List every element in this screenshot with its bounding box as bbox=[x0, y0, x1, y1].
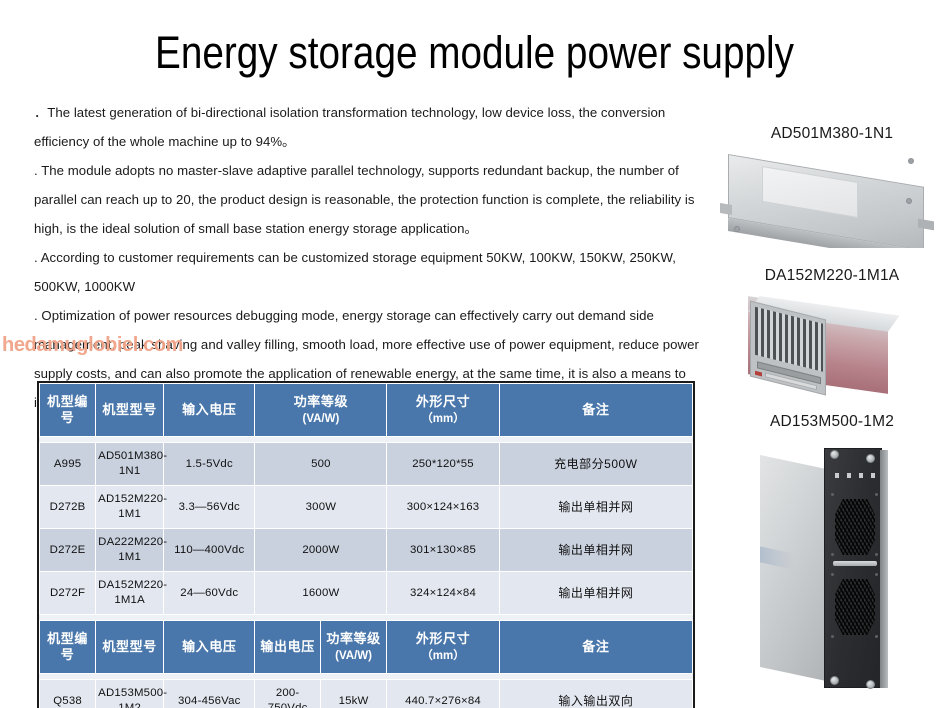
panel-screw-dot bbox=[831, 553, 834, 556]
cell-input-voltage: 3.3—56Vdc bbox=[164, 486, 255, 529]
cell-model-type: DA222M220-1M1 bbox=[96, 529, 164, 572]
cell-model-type: AD152M220-1M1 bbox=[96, 486, 164, 529]
cell-power-rating: 300W bbox=[255, 486, 387, 529]
cell-model-type: DA152M220-1M1A bbox=[96, 572, 164, 615]
header-cell-remark: 备注 bbox=[499, 621, 692, 674]
cell-remark: 输出单相并网 bbox=[499, 486, 692, 529]
product-photo-da152m220-1m1a bbox=[718, 292, 946, 396]
spec-table: 机型编号 机型型号 输入电压 功率等级 (VA/W) 外形尺寸 （mm） 备注 … bbox=[37, 381, 695, 708]
page-title: Energy storage module power supply bbox=[66, 26, 882, 80]
cell-dimensions: 301×130×85 bbox=[387, 529, 499, 572]
table-header-row-2: 机型编号 机型型号 输入电压 输出电压 功率等级 (VA/W) 外形尺寸 （mm… bbox=[40, 621, 693, 674]
cell-power-rating: 2000W bbox=[255, 529, 387, 572]
status-led-icon bbox=[859, 473, 863, 478]
body-paragraph-2: . The module adopts no master-slave adap… bbox=[34, 156, 706, 243]
cell-model-no: Q538 bbox=[40, 680, 96, 708]
screw-icon bbox=[906, 198, 912, 204]
header-cell-input-voltage: 输入电压 bbox=[164, 621, 255, 674]
screw-icon bbox=[908, 158, 914, 164]
panel-screw-dot bbox=[831, 573, 834, 576]
product-photo-ad153m500-1m2 bbox=[760, 440, 946, 698]
cell-remark: 输出单相并网 bbox=[499, 572, 692, 615]
cell-remark: 输入输出双向 bbox=[499, 680, 692, 708]
table-header-row-1: 机型编号 机型型号 输入电压 功率等级 (VA/W) 外形尺寸 （mm） 备注 bbox=[40, 384, 693, 437]
cell-dimensions: 324×124×84 bbox=[387, 572, 499, 615]
header-cell-dimensions: 外形尺寸 （mm） bbox=[387, 621, 499, 674]
cell-input-voltage: 110—400Vdc bbox=[164, 529, 255, 572]
panel-screw-dot bbox=[875, 493, 878, 496]
status-led-icon bbox=[835, 473, 839, 478]
ventilation-grille-icon bbox=[755, 307, 823, 372]
cell-model-no: D272E bbox=[40, 529, 96, 572]
fan-grille-icon bbox=[835, 579, 875, 635]
header-cell-output-voltage: 输出电压 bbox=[255, 621, 320, 674]
cell-model-no: A995 bbox=[40, 443, 96, 486]
cell-power-rating: 1600W bbox=[255, 572, 387, 615]
screw-icon bbox=[734, 226, 740, 232]
header-cell-power-rating: 功率等级 (VA/W) bbox=[255, 384, 387, 437]
panel-screw-dot bbox=[875, 635, 878, 638]
header-cell-model-type: 机型型号 bbox=[96, 621, 164, 674]
header-cell-remark: 备注 bbox=[499, 384, 692, 437]
panel-screw-dot bbox=[875, 553, 878, 556]
panel-screw-dot bbox=[875, 573, 878, 576]
cell-input-voltage: 1.5-5Vdc bbox=[164, 443, 255, 486]
slide-canvas: Energy storage module power supply ．The … bbox=[0, 0, 949, 708]
product-photo-ad501m380-1n1 bbox=[718, 148, 946, 248]
module-handle bbox=[833, 561, 877, 566]
cell-model-no: D272B bbox=[40, 486, 96, 529]
body-text-block: ．The latest generation of bi-directional… bbox=[34, 98, 706, 417]
cell-model-type: AD153M500-1M2 bbox=[96, 680, 164, 708]
header-cell-power-rating: 功率等级 (VA/W) bbox=[320, 621, 387, 674]
cell-dimensions: 250*120*55 bbox=[387, 443, 499, 486]
cell-power-rating: 500 bbox=[255, 443, 387, 486]
status-led-icon bbox=[871, 473, 875, 478]
screw-icon bbox=[830, 450, 839, 459]
product-label-da152m220-1m1a: DA152M220-1M1A bbox=[718, 267, 946, 285]
cell-output-voltage: 200-750Vdc bbox=[255, 680, 320, 708]
header-cell-model-no: 机型编号 bbox=[40, 621, 96, 674]
screw-icon bbox=[830, 676, 839, 685]
status-led-icon bbox=[847, 473, 851, 478]
module-edge-rail bbox=[880, 450, 888, 688]
cell-model-no: D272F bbox=[40, 572, 96, 615]
cell-power-rating: 15kW bbox=[320, 680, 387, 708]
cell-remark: 输出单相并网 bbox=[499, 529, 692, 572]
header-cell-model-no: 机型编号 bbox=[40, 384, 96, 437]
cell-input-voltage: 24—60Vdc bbox=[164, 572, 255, 615]
screw-icon bbox=[866, 454, 875, 463]
module-front-face bbox=[824, 448, 882, 688]
header-cell-input-voltage: 输入电压 bbox=[164, 384, 255, 437]
product-label-ad153m500-1m2: AD153M500-1M2 bbox=[718, 413, 946, 431]
table-row: D272E DA222M220-1M1 110—400Vdc 2000W 301… bbox=[40, 529, 693, 572]
panel-screw-dot bbox=[831, 635, 834, 638]
header-cell-dimensions: 外形尺寸 （mm） bbox=[387, 384, 499, 437]
led-indicator-row bbox=[835, 471, 875, 479]
table-row: A995 AD501M380-1N1 1.5-5Vdc 500 250*120*… bbox=[40, 443, 693, 486]
header-cell-model-type: 机型型号 bbox=[96, 384, 164, 437]
product-label-ad501m380-1n1: AD501M380-1N1 bbox=[718, 125, 946, 143]
cell-model-type: AD501M380-1N1 bbox=[96, 443, 164, 486]
cell-input-voltage: 304-456Vac bbox=[164, 680, 255, 708]
cell-dimensions: 300×124×163 bbox=[387, 486, 499, 529]
chassis-mount-ear-left bbox=[720, 203, 732, 215]
screw-icon bbox=[866, 680, 875, 689]
table-row: D272F DA152M220-1M1A 24—60Vdc 1600W 324×… bbox=[40, 572, 693, 615]
table-row: Q538 AD153M500-1M2 304-456Vac 200-750Vdc… bbox=[40, 680, 693, 708]
table-row: D272B AD152M220-1M1 3.3—56Vdc 300W 300×1… bbox=[40, 486, 693, 529]
status-led-icon bbox=[755, 371, 762, 377]
panel-screw-dot bbox=[831, 493, 834, 496]
cell-remark: 充电部分500W bbox=[499, 443, 692, 486]
body-paragraph-1: ．The latest generation of bi-directional… bbox=[34, 98, 706, 156]
cell-dimensions: 440.7×276×84 bbox=[387, 680, 499, 708]
body-paragraph-3: . According to customer requirements can… bbox=[34, 243, 706, 301]
fan-grille-icon bbox=[835, 499, 875, 555]
